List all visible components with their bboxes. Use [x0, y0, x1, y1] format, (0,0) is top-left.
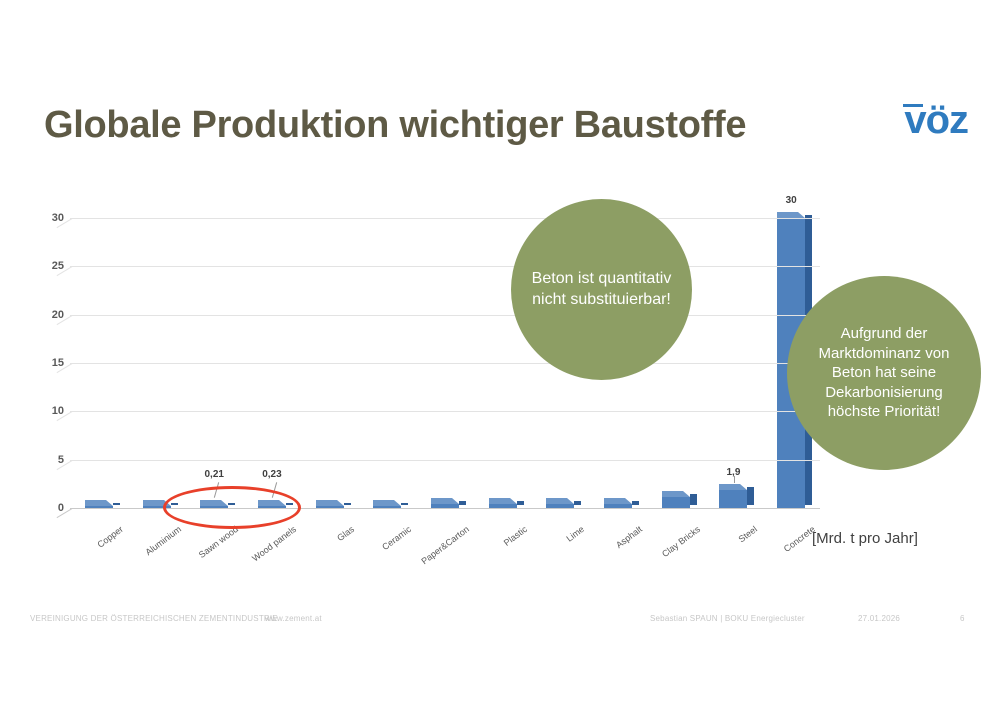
unit-note: [Mrd. t pro Jahr]: [812, 530, 918, 547]
bar-front-face: [662, 497, 690, 508]
bar-side-face: [632, 501, 639, 505]
x-axis-label: Ceramic: [381, 524, 414, 552]
gridline: [70, 363, 820, 364]
voz-logo: vöz: [848, 98, 968, 144]
y-tick-label: 15: [52, 357, 64, 369]
bar-steel[interactable]: 1,9: [719, 483, 747, 508]
x-axis-label: Glas: [335, 524, 356, 543]
footer-author: Sebastian SPAUN | BOKU Energiecluster: [650, 614, 805, 623]
bar-paper-carton[interactable]: [431, 497, 459, 508]
bar-side-face: [574, 501, 581, 505]
bar-value-label: 0,23: [262, 469, 281, 480]
bar-side-face: [747, 487, 754, 505]
bar-plastic[interactable]: [489, 497, 517, 508]
bar-top-face: [604, 498, 632, 504]
logo-macron: [903, 104, 923, 107]
x-axis-label: Wood panels: [250, 524, 298, 564]
callout-beton: Beton ist quantitativ nicht substituierb…: [511, 199, 692, 380]
bar-side-face: [690, 494, 697, 505]
page-title: Globale Produktion wichtiger Baustoffe: [44, 104, 746, 147]
x-axis: CopperAluminiumSawn woodWood panelsGlasC…: [70, 524, 820, 584]
highlight-ellipse: [163, 486, 301, 529]
x-axis-label: Lime: [565, 524, 587, 544]
bar-top-face: [373, 500, 401, 506]
y-axis: 051015202530: [20, 218, 68, 508]
bar-side-face: [459, 501, 466, 505]
gridline: [70, 460, 820, 461]
bar-top-face: [489, 498, 517, 504]
slide: Globale Produktion wichtiger Baustoffe v…: [0, 0, 1000, 707]
bar-side-face: [401, 503, 408, 505]
footer-page-number: 6: [960, 614, 965, 623]
bar-clay-bricks[interactable]: [662, 490, 690, 508]
callout-dekarbonisierung: Aufgrund der Marktdominanz von Beton hat…: [787, 276, 981, 470]
y-tick-label: 20: [52, 309, 64, 321]
bar-side-face: [113, 503, 120, 505]
bar-glas[interactable]: [316, 499, 344, 508]
bar-ceramic[interactable]: [373, 499, 401, 508]
bar-copper[interactable]: [85, 499, 113, 508]
bar-top-face: [546, 498, 574, 504]
footer-date: 27.01.2026: [858, 614, 900, 623]
bar-value-label: 1,9: [727, 467, 741, 478]
x-axis-label: Steel: [737, 524, 759, 544]
gridline: [70, 266, 820, 267]
bar-top-face: [719, 484, 747, 490]
bar-lime[interactable]: [546, 497, 574, 508]
plot-area: 0,210,231,930: [70, 218, 820, 523]
bar-value-label: 30: [786, 195, 797, 206]
callout-dekarbonisierung-text: Aufgrund der Marktdominanz von Beton hat…: [800, 324, 968, 422]
footer-organisation: VEREINIGUNG DER ÖSTERREICHISCHEN ZEMENTI…: [30, 614, 278, 623]
bars-container: 0,210,231,930: [70, 218, 820, 523]
bar-top-face: [662, 491, 690, 497]
bar-top-face: [431, 498, 459, 504]
bar-front-face: [719, 490, 747, 508]
bar-value-label: 0,21: [204, 469, 223, 480]
bar-chart: 051015202530 0,210,231,930 CopperAlumini…: [20, 218, 820, 538]
bar-side-face: [344, 503, 351, 505]
bar-asphalt[interactable]: [604, 497, 632, 508]
x-axis-label: Copper: [95, 524, 125, 550]
x-axis-label: Asphalt: [614, 524, 644, 550]
bar-side-face: [517, 501, 524, 505]
y-tick-label: 30: [52, 212, 64, 224]
gridline: [70, 218, 820, 219]
bar-top-face: [316, 500, 344, 506]
label-leader-line: [734, 476, 735, 483]
x-axis-label: Clay Bricks: [660, 524, 702, 559]
callout-beton-text: Beton ist quantitativ nicht substituierb…: [524, 269, 680, 311]
x-axis-label: Paper&Carton: [419, 524, 471, 566]
x-axis-label: Aluminium: [143, 524, 183, 557]
x-axis-label: Plastic: [502, 524, 529, 548]
footer-url[interactable]: www.zement.at: [265, 614, 322, 623]
x-axis-label: Sawn wood: [197, 524, 240, 560]
bar-top-face: [85, 500, 113, 506]
gridline: [70, 315, 820, 316]
gridline: [70, 411, 820, 412]
